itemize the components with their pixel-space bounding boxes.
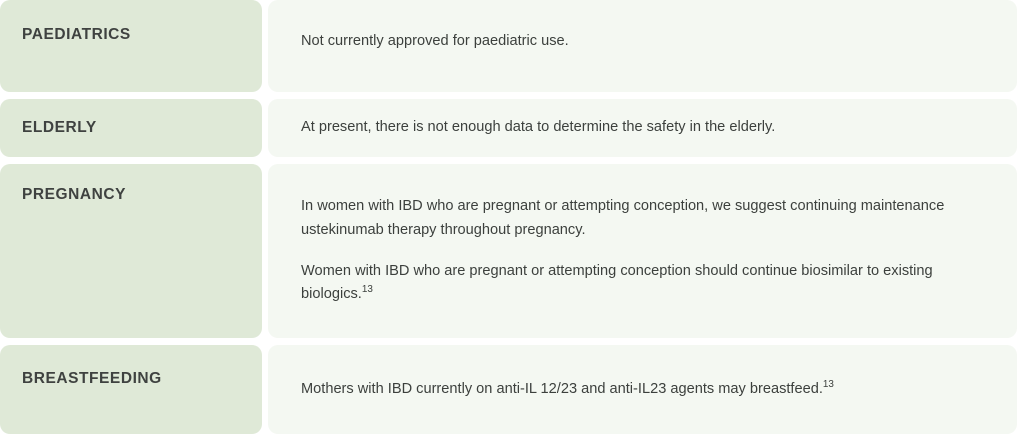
row-label-cell-breastfeeding: BREASTFEEDING bbox=[0, 345, 262, 434]
content-paragraph: Mothers with IBD currently on anti-IL 12… bbox=[301, 378, 977, 402]
row-label-cell-pregnancy: PREGNANCY bbox=[0, 164, 262, 338]
content-paragraph: Not currently approved for paediatric us… bbox=[301, 30, 977, 54]
row-label: BREASTFEEDING bbox=[22, 370, 262, 389]
paragraph-text: At present, there is not enough data to … bbox=[301, 119, 775, 135]
row-content-cell-paediatrics: Not currently approved for paediatric us… bbox=[268, 0, 1017, 92]
row-label-cell-paediatrics: PAEDIATRICS bbox=[0, 0, 262, 92]
row-label: PREGNANCY bbox=[22, 186, 262, 205]
row-content-cell-elderly: At present, there is not enough data to … bbox=[268, 99, 1017, 157]
row-label: ELDERLY bbox=[22, 119, 262, 138]
paragraph-text: Not currently approved for paediatric us… bbox=[301, 33, 569, 49]
citation-superscript: 13 bbox=[823, 379, 834, 390]
table-row: PREGNANCY In women with IBD who are preg… bbox=[0, 164, 1017, 338]
table-row: PAEDIATRICS Not currently approved for p… bbox=[0, 0, 1017, 92]
special-populations-table: PAEDIATRICS Not currently approved for p… bbox=[0, 0, 1017, 434]
content-paragraph: Women with IBD who are pregnant or attem… bbox=[301, 260, 977, 307]
row-content-cell-pregnancy: In women with IBD who are pregnant or at… bbox=[268, 164, 1017, 338]
paragraph-text: In women with IBD who are pregnant or at… bbox=[301, 198, 944, 238]
citation-superscript: 13 bbox=[362, 284, 373, 295]
row-label-cell-elderly: ELDERLY bbox=[0, 99, 262, 157]
paragraph-text: Women with IBD who are pregnant or attem… bbox=[301, 263, 933, 303]
row-content-cell-breastfeeding: Mothers with IBD currently on anti-IL 12… bbox=[268, 345, 1017, 434]
row-label: PAEDIATRICS bbox=[22, 26, 262, 45]
content-paragraph: At present, there is not enough data to … bbox=[301, 116, 977, 140]
content-paragraph: In women with IBD who are pregnant or at… bbox=[301, 195, 977, 242]
table-row: BREASTFEEDING Mothers with IBD currently… bbox=[0, 345, 1017, 434]
paragraph-text: Mothers with IBD currently on anti-IL 12… bbox=[301, 381, 823, 397]
table-row: ELDERLY At present, there is not enough … bbox=[0, 99, 1017, 157]
